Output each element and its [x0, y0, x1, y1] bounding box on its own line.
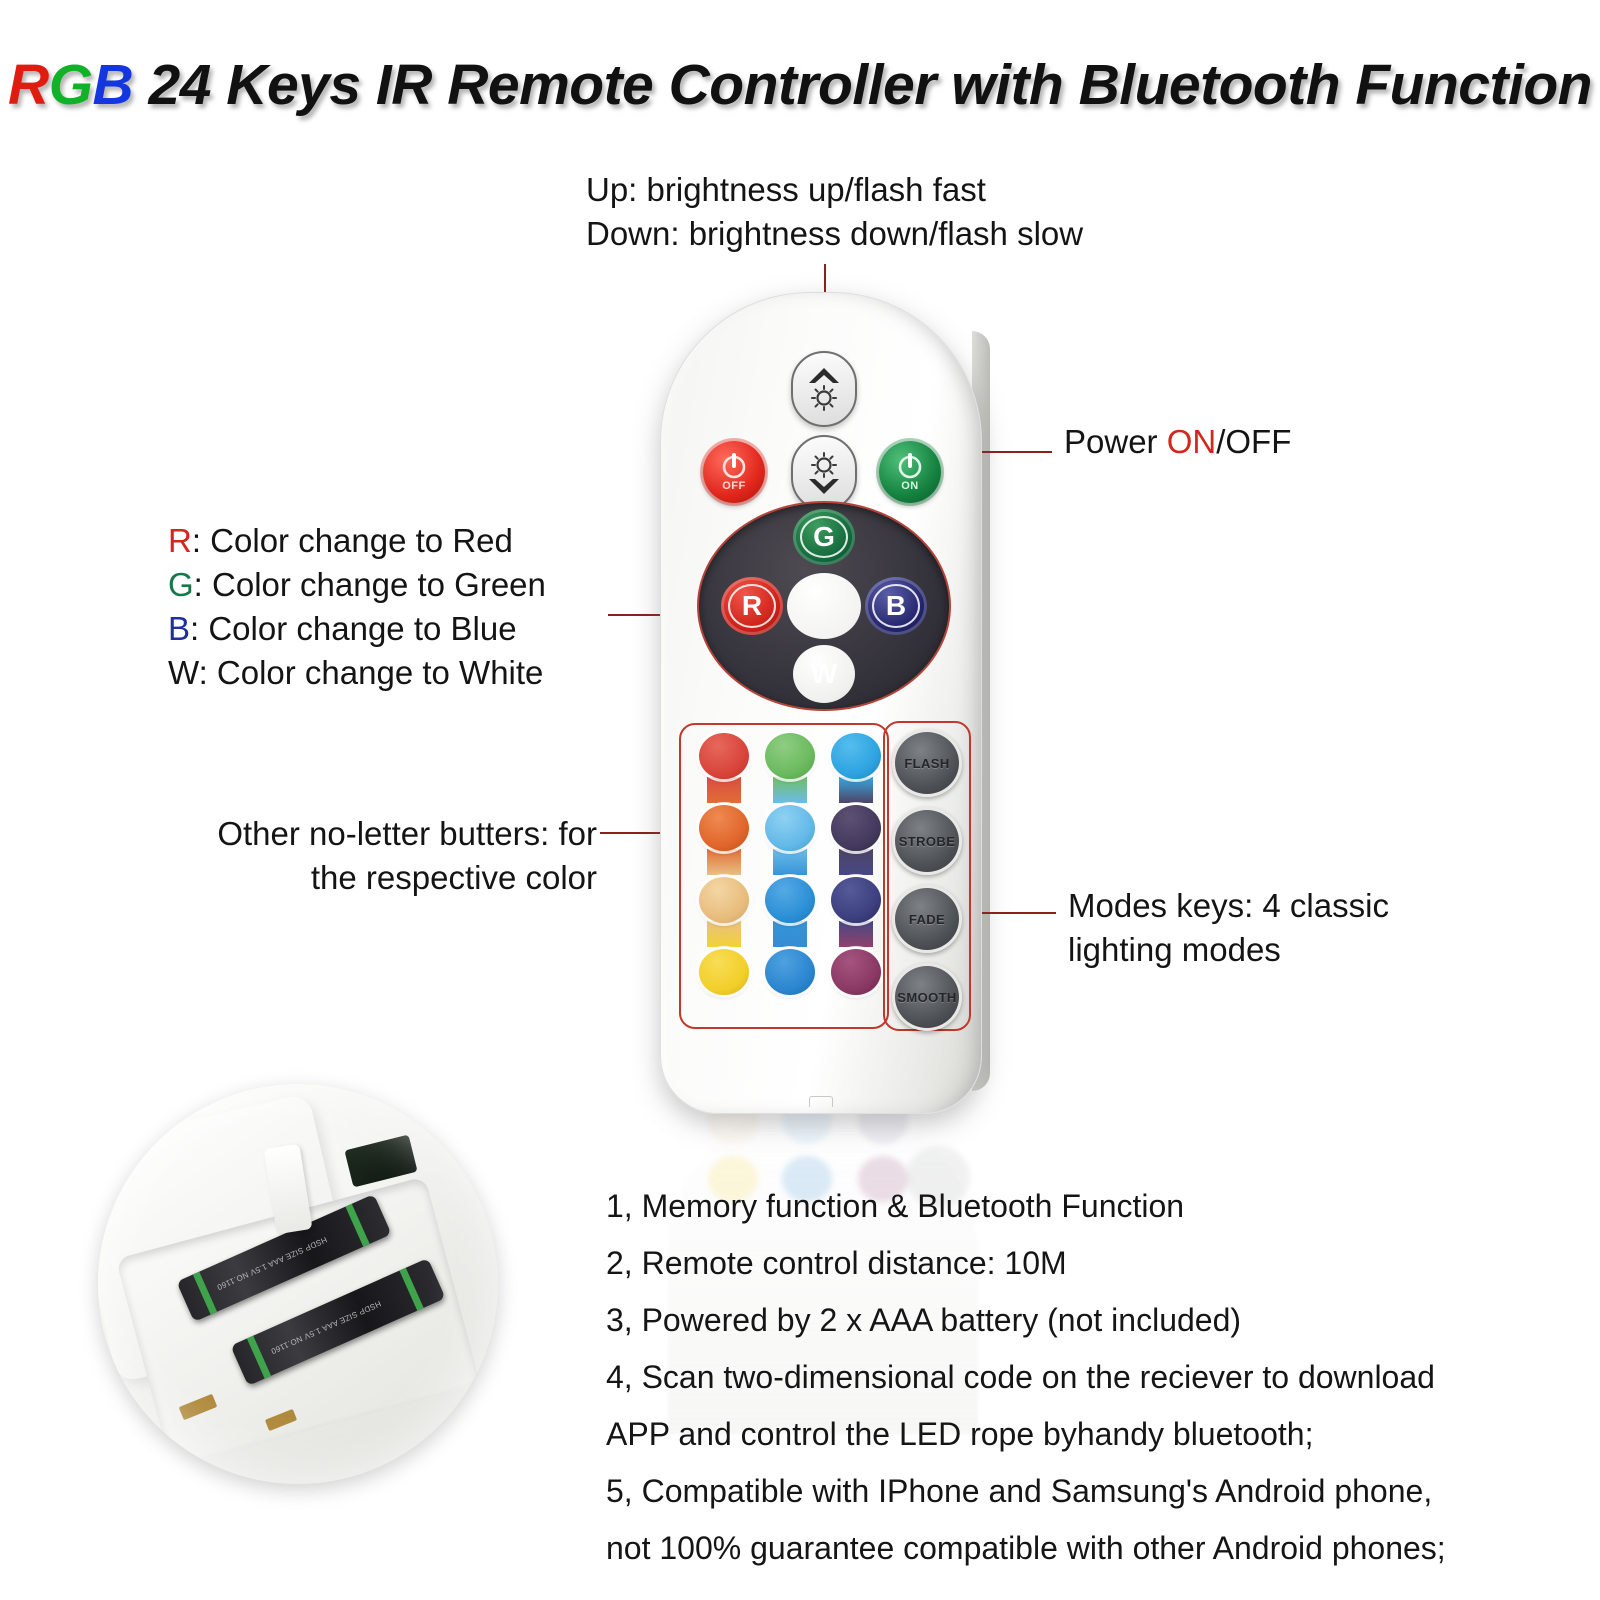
remote-bottom-notch: [809, 1096, 833, 1107]
spec-item-3: 3, Powered by 2 x AAA battery (not inclu…: [606, 1292, 1556, 1349]
color-button-0-2[interactable]: [831, 733, 881, 779]
title-letter-r: R: [8, 53, 49, 117]
mode-label-smooth: SMOOTH: [897, 990, 956, 1005]
pad-button-center[interactable]: [787, 573, 861, 639]
power-on-label: ON: [901, 480, 919, 492]
power-icon-off: [721, 451, 747, 479]
annotation-power: Power ON/OFF: [1064, 420, 1291, 464]
spec-item-5-cont: not 100% guarantee compatible with other…: [606, 1520, 1556, 1577]
color-strip: [773, 777, 807, 803]
spec-item-2: 2, Remote control distance: 10M: [606, 1235, 1556, 1292]
sun-chevron-down-icon: [803, 448, 845, 498]
photo-vignette: [98, 1084, 498, 1484]
color-button-2-1[interactable]: [765, 877, 815, 923]
color-strip: [707, 849, 741, 875]
rgbw-text-b: : Color change to Blue: [190, 610, 517, 647]
spec-list: 1, Memory function & Bluetooth Function …: [606, 1178, 1556, 1577]
mode-button-smooth[interactable]: SMOOTH: [892, 963, 962, 1031]
annotation-brightness: Up: brightness up/flash fast Down: brigh…: [586, 168, 1083, 256]
spec-item-1: 1, Memory function & Bluetooth Function: [606, 1178, 1556, 1235]
power-icon-on: [897, 451, 923, 479]
title-letter-b: B: [93, 53, 134, 117]
color-strip: [839, 849, 873, 875]
spec-item-4: 4, Scan two-dimensional code on the reci…: [606, 1349, 1556, 1406]
spec-item-5: 5, Compatible with IPhone and Samsung's …: [606, 1463, 1556, 1520]
rgbw-letter-r: R: [168, 522, 192, 559]
battery-compartment-photo: HSDP SIZE AAA 1.5V NO.1160 HSDP SIZE AAA…: [98, 1084, 498, 1484]
color-button-0-0[interactable]: [699, 733, 749, 779]
spec-item-4-cont: APP and control the LED rope byhandy blu…: [606, 1406, 1556, 1463]
title-letter-g: G: [49, 53, 93, 117]
power-off-button[interactable]: OFF: [703, 441, 765, 503]
rgbw-text-r: : Color change to Red: [192, 522, 513, 559]
color-strip: [773, 921, 807, 947]
mode-button-group: FLASH STROBE FADE SMOOTH: [889, 729, 961, 1029]
remote-control-body: OFF ON G R B W: [660, 292, 982, 1114]
pad-button-green[interactable]: G: [793, 509, 855, 565]
color-button-grid: [689, 733, 873, 1023]
color-button-1-2[interactable]: [831, 805, 881, 851]
title-rest: 24 Keys IR Remote Controller with Blueto…: [133, 53, 1592, 117]
annotation-power-on: ON: [1167, 423, 1217, 460]
mode-button-strobe[interactable]: STROBE: [892, 807, 962, 875]
pad-button-white[interactable]: W: [793, 645, 855, 703]
mode-button-flash[interactable]: FLASH: [892, 729, 962, 797]
annotation-rgbw-g: G: Color change to Green: [168, 563, 546, 607]
pad-button-blue[interactable]: B: [865, 577, 927, 635]
annotation-power-suffix: /OFF: [1216, 423, 1291, 460]
rgbw-letter-w: W: [168, 654, 199, 691]
color-button-2-0[interactable]: [699, 877, 749, 923]
rgbw-text-g: : Color change to Green: [194, 566, 546, 603]
annotation-other-buttons: Other no-letter butters: for the respect…: [172, 812, 597, 900]
annotation-rgbw-w: W: Color change to White: [168, 651, 546, 695]
color-button-1-1[interactable]: [765, 805, 815, 851]
chevron-up-sun-icon: [803, 364, 845, 414]
color-button-3-1[interactable]: [765, 949, 815, 995]
mode-button-fade[interactable]: FADE: [892, 885, 962, 953]
annotation-power-prefix: Power: [1064, 423, 1167, 460]
remote-side-edge: [972, 331, 990, 1091]
annotation-brightness-up: Up: brightness up/flash fast: [586, 168, 1083, 212]
color-button-2-2[interactable]: [831, 877, 881, 923]
brightness-down-button[interactable]: [791, 435, 857, 511]
color-button-1-0[interactable]: [699, 805, 749, 851]
color-button-3-0[interactable]: [699, 949, 749, 995]
annotation-modes: Modes keys: 4 classic lighting modes: [1068, 884, 1468, 972]
annotation-brightness-down: Down: brightness down/flash slow: [586, 212, 1083, 256]
color-button-3-2[interactable]: [831, 949, 881, 995]
mode-label-strobe: STROBE: [899, 834, 956, 849]
rgbw-letter-b: B: [168, 610, 190, 647]
infographic-stage: RGB 24 Keys IR Remote Controller with Bl…: [0, 0, 1600, 1600]
rgbw-letter-g: G: [168, 566, 194, 603]
color-strip: [707, 921, 741, 947]
rgbw-color-pad: G R B W: [697, 501, 951, 711]
pad-button-red[interactable]: R: [721, 577, 783, 635]
brightness-up-button[interactable]: [791, 351, 857, 427]
color-strip: [707, 777, 741, 803]
rgbw-text-w: : Color change to White: [199, 654, 544, 691]
color-strip: [839, 777, 873, 803]
power-on-button[interactable]: ON: [879, 441, 941, 503]
pad-label-w: W: [811, 658, 837, 690]
color-button-0-1[interactable]: [765, 733, 815, 779]
annotation-rgbw-b: B: Color change to Blue: [168, 607, 546, 651]
power-off-label: OFF: [722, 480, 746, 492]
page-title: RGB 24 Keys IR Remote Controller with Bl…: [0, 52, 1600, 118]
color-strip: [773, 849, 807, 875]
color-strip: [839, 921, 873, 947]
annotation-rgbw-r: R: Color change to Red: [168, 519, 546, 563]
annotation-rgbw: R: Color change to Red G: Color change t…: [168, 519, 546, 695]
mode-label-flash: FLASH: [904, 756, 949, 771]
mode-label-fade: FADE: [909, 912, 945, 927]
